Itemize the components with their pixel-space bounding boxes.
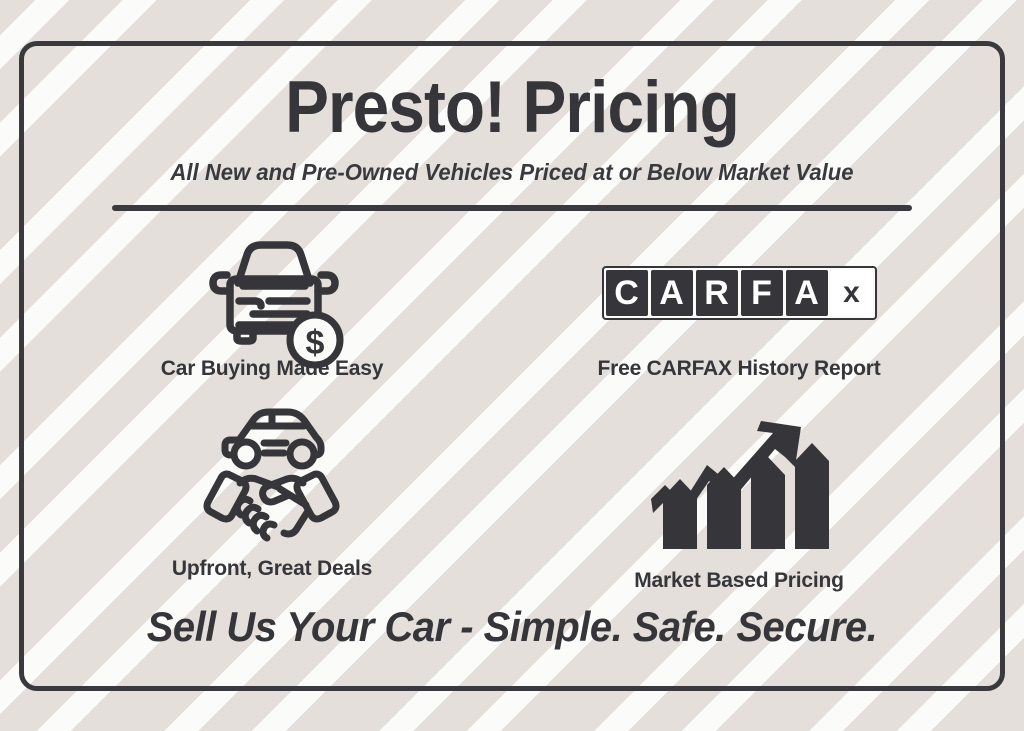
carfax-letter-boxes: C A R F A x (602, 266, 877, 320)
page-subtitle: All New and Pre-Owned Vehicles Priced at… (39, 158, 986, 186)
carfax-letter-r: R (696, 270, 738, 316)
carfax-letter-x: x (831, 270, 873, 316)
car-front-dollar-icon (122, 237, 422, 349)
feature-market-pricing: Market Based Pricing (589, 411, 889, 593)
svg-text:$: $ (306, 324, 325, 362)
carfax-letter-a2: A (786, 270, 828, 316)
handshake-car-icon (122, 399, 422, 549)
carfax-letter-f: F (741, 270, 783, 316)
feature-upfront-deals: Upfront, Great Deals (122, 399, 422, 581)
banner-content: Presto! Pricing All New and Pre-Owned Ve… (19, 41, 1005, 691)
dollar-coin-icon: $ (284, 309, 346, 371)
growth-bar-chart-arrow-icon (589, 411, 889, 561)
feature-carfax-report: C A R F A x Free CARFAX History Report (589, 237, 889, 381)
feature-caption: Market Based Pricing (589, 569, 889, 593)
carfax-letter-c: C (606, 270, 648, 316)
page-title: Presto! Pricing (68, 69, 955, 147)
presto-pricing-banner: Presto! Pricing All New and Pre-Owned Ve… (0, 0, 1024, 731)
carfax-letter-a1: A (651, 270, 693, 316)
feature-caption: Upfront, Great Deals (122, 557, 422, 581)
carfax-logo: C A R F A x (589, 237, 889, 349)
feature-caption: Free CARFAX History Report (589, 357, 889, 381)
feature-car-buying: Car Buying Made Easy (122, 237, 422, 381)
footer-tagline: Sell Us Your Car - Simple. Safe. Secure. (44, 603, 981, 651)
feature-caption: Car Buying Made Easy (122, 357, 422, 381)
title-divider (112, 205, 912, 211)
